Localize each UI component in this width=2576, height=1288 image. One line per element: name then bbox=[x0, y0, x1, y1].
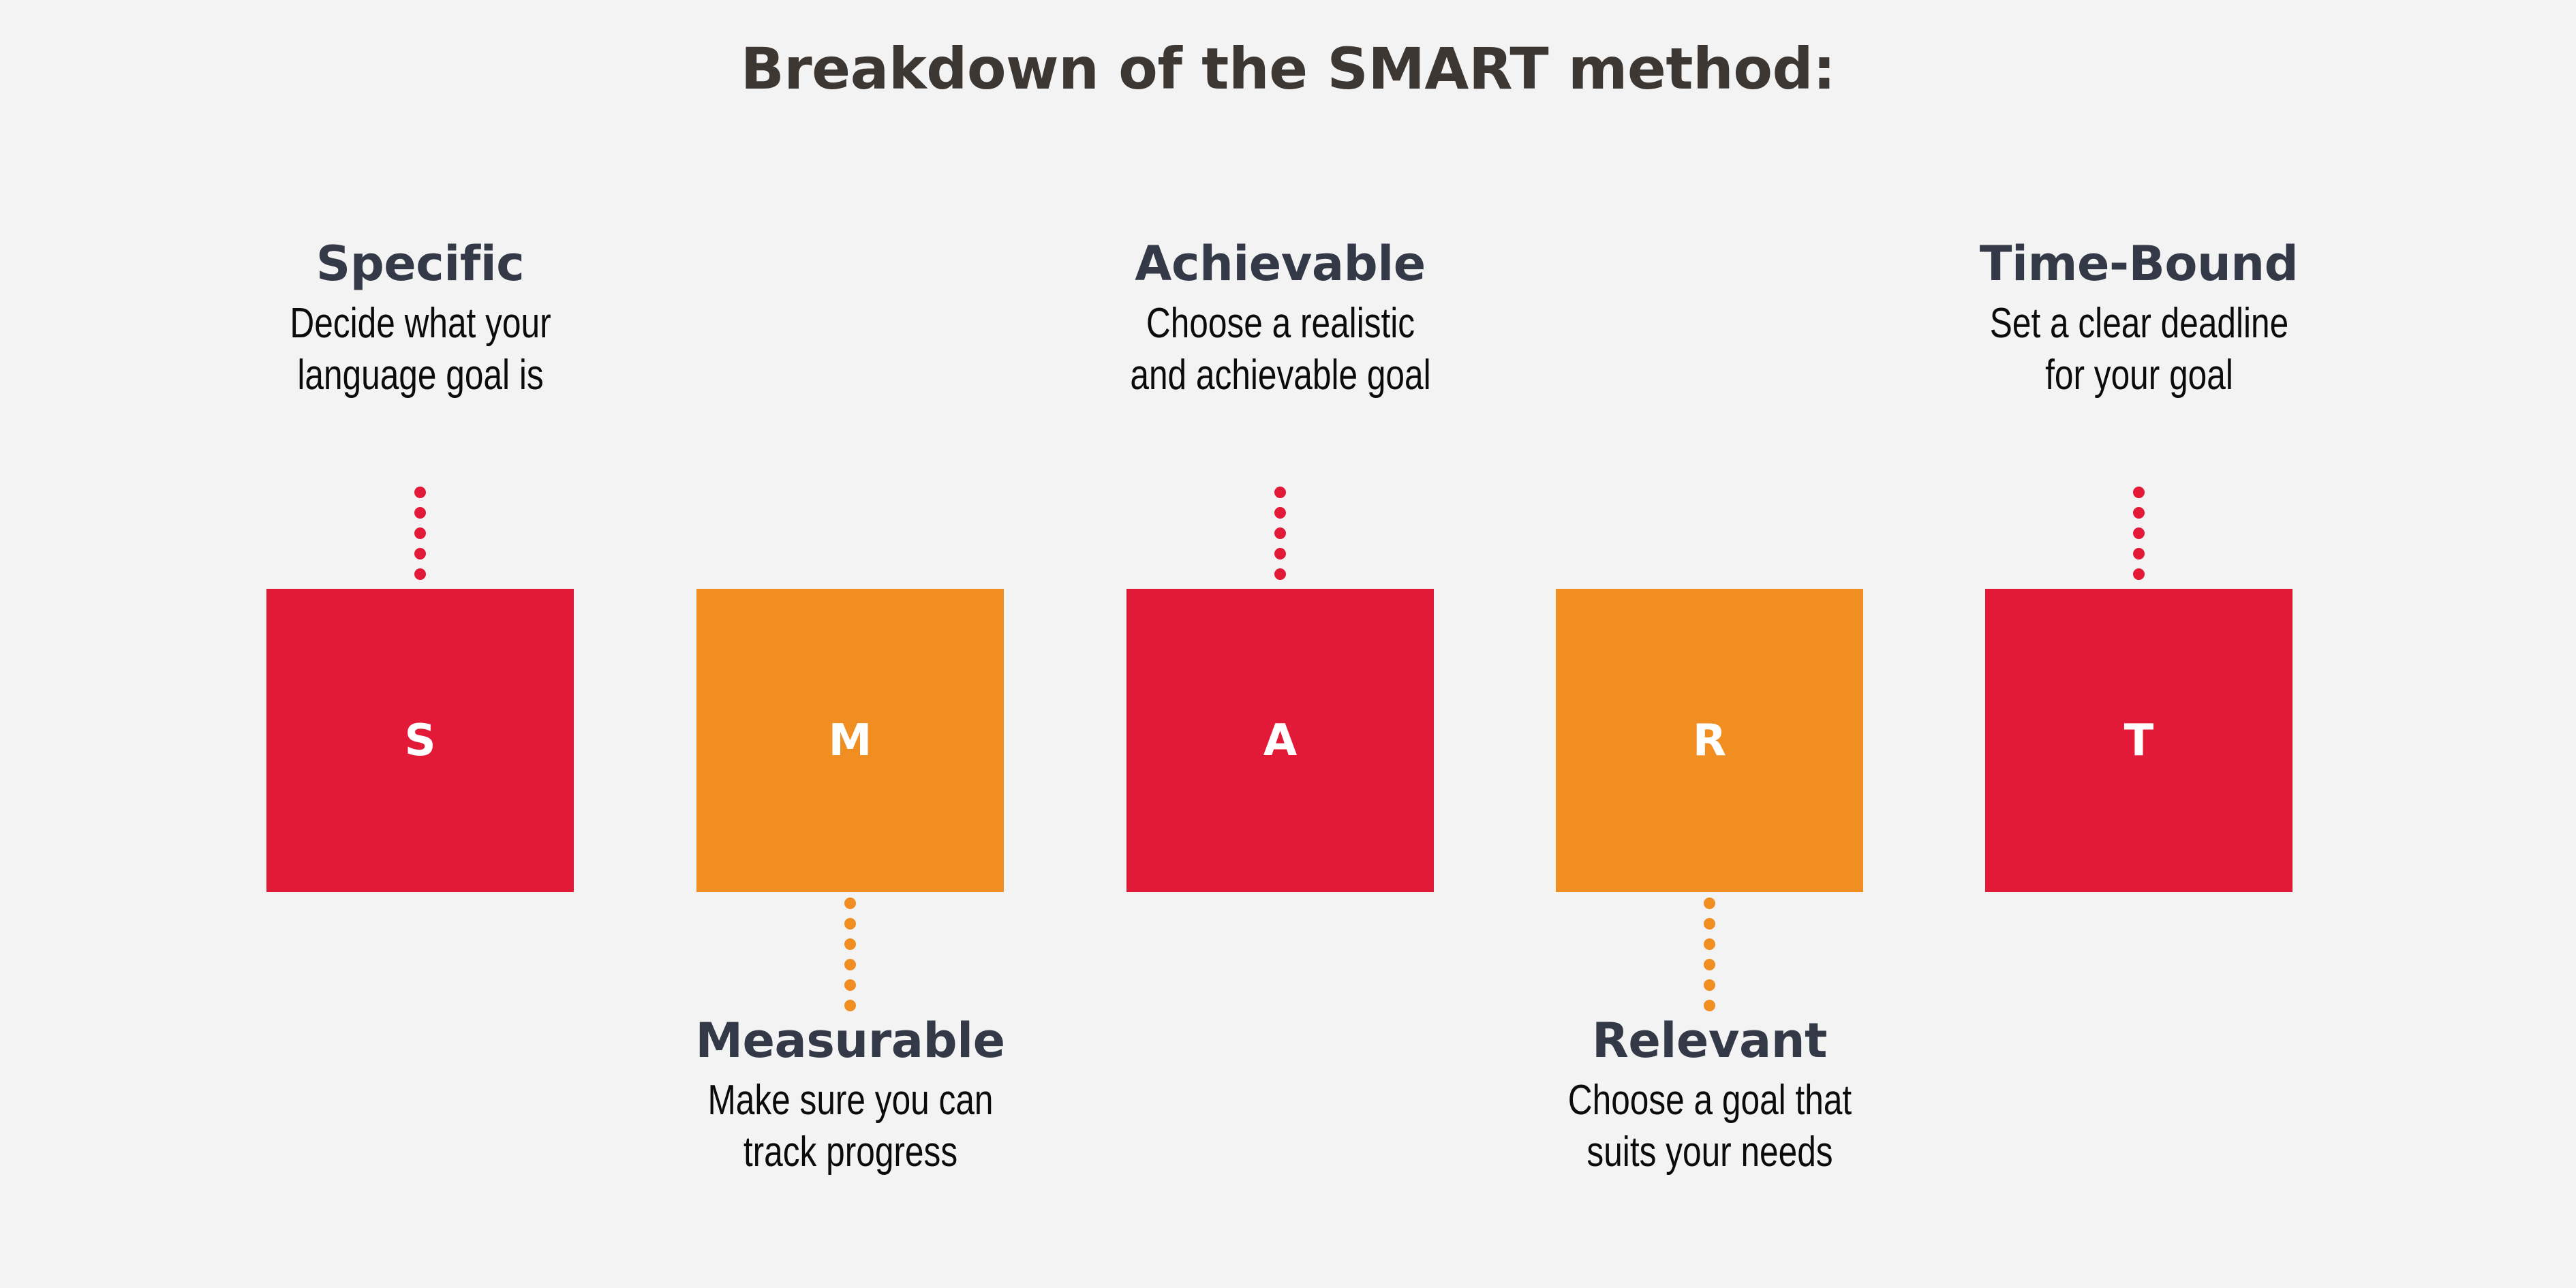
letter-glyph-a: A bbox=[1263, 719, 1298, 763]
description-line: Decide what your bbox=[213, 298, 628, 350]
block-heading-time-bound: Time-Bound bbox=[1880, 240, 2398, 288]
description-line: Set a clear deadline bbox=[1932, 298, 2346, 350]
description-line: for your goal bbox=[1932, 350, 2346, 401]
letter-square-t: T bbox=[1985, 589, 2293, 892]
connector-dot bbox=[1704, 898, 1715, 909]
letter-glyph-m: M bbox=[829, 719, 872, 763]
connector-dot bbox=[844, 1000, 856, 1011]
letter-square-r: R bbox=[1556, 589, 1863, 892]
connector-dot bbox=[1704, 918, 1715, 930]
letter-glyph-s: S bbox=[404, 719, 435, 763]
connector-dotted-achievable bbox=[1274, 487, 1287, 589]
block-description-measurable: Make sure you can track progress bbox=[643, 1075, 1058, 1178]
connector-dot bbox=[2133, 507, 2145, 519]
block-heading-achievable: Achievable bbox=[1022, 240, 1539, 288]
connector-dot bbox=[414, 548, 426, 559]
connector-dot bbox=[1274, 507, 1286, 519]
connector-dot bbox=[1274, 548, 1286, 559]
description-line: suits your needs bbox=[1503, 1126, 1917, 1178]
block-heading-relevant: Relevant bbox=[1451, 1017, 1969, 1065]
smart-text-block-achievable: Achievable Choose a realistic and achiev… bbox=[1022, 240, 1539, 401]
smart-diagram: Specific Decide what your language goal … bbox=[0, 0, 2576, 1288]
letter-square-s: S bbox=[266, 589, 574, 892]
connector-dot bbox=[844, 938, 856, 950]
connector-dot bbox=[414, 568, 426, 580]
block-heading-measurable: Measurable bbox=[592, 1017, 1109, 1065]
connector-dotted-specific bbox=[414, 487, 427, 589]
connector-dot bbox=[2133, 568, 2145, 580]
connector-dot bbox=[844, 959, 856, 970]
connector-dot bbox=[1274, 568, 1286, 580]
connector-dot bbox=[414, 527, 426, 539]
connector-dotted-relevant bbox=[1704, 898, 1716, 1013]
description-line: language goal is bbox=[213, 350, 628, 401]
connector-dot bbox=[1704, 979, 1715, 991]
smart-text-block-relevant: Relevant Choose a goal that suits your n… bbox=[1451, 1017, 1969, 1178]
description-line: Choose a goal that bbox=[1503, 1075, 1917, 1126]
block-heading-specific: Specific bbox=[162, 240, 679, 288]
block-description-specific: Decide what your language goal is bbox=[213, 298, 628, 401]
connector-dot bbox=[1274, 487, 1286, 498]
connector-dot bbox=[414, 507, 426, 519]
block-description-time-bound: Set a clear deadline for your goal bbox=[1932, 298, 2346, 401]
description-line: track progress bbox=[643, 1126, 1058, 1178]
connector-dot bbox=[1704, 938, 1715, 950]
smart-text-block-measurable: Measurable Make sure you can track progr… bbox=[592, 1017, 1109, 1178]
letter-square-m: M bbox=[696, 589, 1004, 892]
smart-text-block-time-bound: Time-Bound Set a clear deadline for your… bbox=[1880, 240, 2398, 401]
letter-glyph-t: T bbox=[2124, 719, 2154, 763]
connector-dot bbox=[1704, 1000, 1715, 1011]
letter-square-a: A bbox=[1126, 589, 1434, 892]
block-description-relevant: Choose a goal that suits your needs bbox=[1503, 1075, 1917, 1178]
description-line: Choose a realistic bbox=[1073, 298, 1488, 350]
block-description-achievable: Choose a realistic and achievable goal bbox=[1073, 298, 1488, 401]
connector-dot bbox=[1704, 959, 1715, 970]
connector-dot bbox=[844, 898, 856, 909]
connector-dot bbox=[2133, 527, 2145, 539]
letter-glyph-r: R bbox=[1693, 719, 1726, 763]
connector-dot bbox=[1274, 527, 1286, 539]
connector-dot bbox=[844, 918, 856, 930]
connector-dot bbox=[844, 979, 856, 991]
description-line: Make sure you can bbox=[643, 1075, 1058, 1126]
connector-dot bbox=[2133, 487, 2145, 498]
connector-dot bbox=[2133, 548, 2145, 559]
smart-text-block-specific: Specific Decide what your language goal … bbox=[162, 240, 679, 401]
description-line: and achievable goal bbox=[1073, 350, 1488, 401]
connector-dotted-time-bound bbox=[2133, 487, 2145, 589]
connector-dot bbox=[414, 487, 426, 498]
connector-dotted-measurable bbox=[844, 898, 857, 1013]
